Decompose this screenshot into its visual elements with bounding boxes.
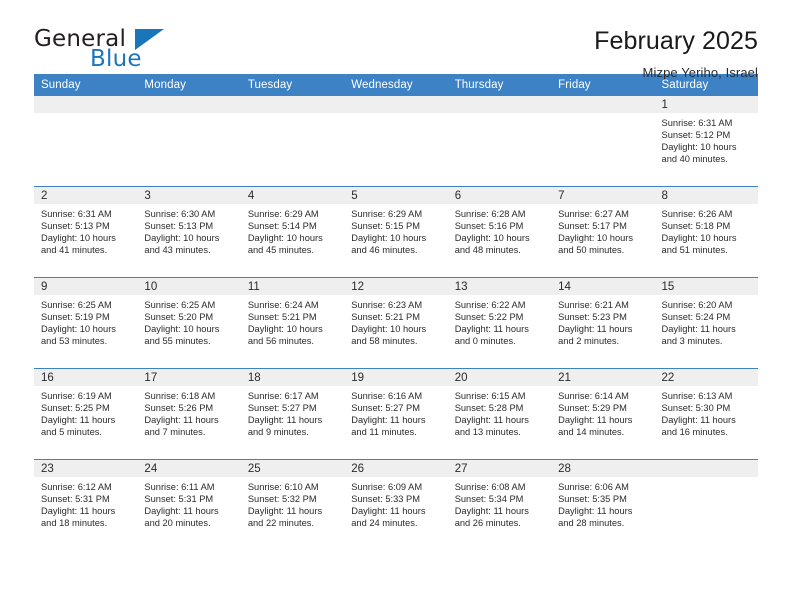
day-details: Sunrise: 6:11 AMSunset: 5:31 PMDaylight:… <box>137 477 240 529</box>
calendar-day-cell[interactable]: 1Sunrise: 6:31 AMSunset: 5:12 PMDaylight… <box>655 96 758 187</box>
calendar-week-row: 1Sunrise: 6:31 AMSunset: 5:12 PMDaylight… <box>34 96 758 187</box>
sunset-text: Sunset: 5:31 PM <box>41 493 131 505</box>
page-subtitle: Mizpe Yeriho, Israel <box>594 65 758 80</box>
calendar-week-row: 23Sunrise: 6:12 AMSunset: 5:31 PMDayligh… <box>34 460 758 551</box>
sunset-text: Sunset: 5:33 PM <box>351 493 441 505</box>
sunset-text: Sunset: 5:29 PM <box>558 402 648 414</box>
sunrise-text: Sunrise: 6:08 AM <box>455 481 545 493</box>
day-details: Sunrise: 6:19 AMSunset: 5:25 PMDaylight:… <box>34 386 137 438</box>
page-header: General Blue February 2025 Mizpe Yeriho,… <box>34 0 758 74</box>
calendar-day-cell[interactable]: 8Sunrise: 6:26 AMSunset: 5:18 PMDaylight… <box>655 187 758 278</box>
calendar-day-cell[interactable]: 11Sunrise: 6:24 AMSunset: 5:21 PMDayligh… <box>241 278 344 369</box>
sunset-text: Sunset: 5:30 PM <box>662 402 752 414</box>
day-number <box>34 96 137 113</box>
day-details: Sunrise: 6:26 AMSunset: 5:18 PMDaylight:… <box>655 204 758 256</box>
daylight-text: Daylight: 11 hours and 5 minutes. <box>41 414 131 438</box>
sunrise-text: Sunrise: 6:11 AM <box>144 481 234 493</box>
sunset-text: Sunset: 5:20 PM <box>144 311 234 323</box>
calendar-day-cell[interactable]: 6Sunrise: 6:28 AMSunset: 5:16 PMDaylight… <box>448 187 551 278</box>
sunrise-text: Sunrise: 6:25 AM <box>144 299 234 311</box>
title-block: February 2025 Mizpe Yeriho, Israel <box>594 28 758 80</box>
daylight-text: Daylight: 11 hours and 20 minutes. <box>144 505 234 529</box>
sunset-text: Sunset: 5:35 PM <box>558 493 648 505</box>
calendar-day-cell[interactable]: 15Sunrise: 6:20 AMSunset: 5:24 PMDayligh… <box>655 278 758 369</box>
day-number: 23 <box>34 460 137 477</box>
sunrise-text: Sunrise: 6:31 AM <box>662 117 752 129</box>
sunset-text: Sunset: 5:12 PM <box>662 129 752 141</box>
sunrise-text: Sunrise: 6:28 AM <box>455 208 545 220</box>
daylight-text: Daylight: 11 hours and 18 minutes. <box>41 505 131 529</box>
day-number: 12 <box>344 278 447 295</box>
day-number: 9 <box>34 278 137 295</box>
sunset-text: Sunset: 5:22 PM <box>455 311 545 323</box>
calendar-day-cell[interactable]: 16Sunrise: 6:19 AMSunset: 5:25 PMDayligh… <box>34 369 137 460</box>
daylight-text: Daylight: 10 hours and 55 minutes. <box>144 323 234 347</box>
calendar-day-cell-empty <box>34 96 137 187</box>
sunset-text: Sunset: 5:14 PM <box>248 220 338 232</box>
calendar-day-cell[interactable]: 9Sunrise: 6:25 AMSunset: 5:19 PMDaylight… <box>34 278 137 369</box>
day-number <box>551 96 654 113</box>
day-number: 25 <box>241 460 344 477</box>
sunrise-text: Sunrise: 6:16 AM <box>351 390 441 402</box>
sunrise-text: Sunrise: 6:26 AM <box>662 208 752 220</box>
day-number: 8 <box>655 187 758 204</box>
sunrise-text: Sunrise: 6:13 AM <box>662 390 752 402</box>
brand-logo[interactable]: General Blue <box>34 28 274 76</box>
weekday-header-sunday: Sunday <box>34 74 137 96</box>
sunrise-text: Sunrise: 6:27 AM <box>558 208 648 220</box>
weekday-header-thursday: Thursday <box>448 74 551 96</box>
sunrise-text: Sunrise: 6:06 AM <box>558 481 648 493</box>
sunrise-text: Sunrise: 6:22 AM <box>455 299 545 311</box>
calendar-day-cell[interactable]: 7Sunrise: 6:27 AMSunset: 5:17 PMDaylight… <box>551 187 654 278</box>
calendar-page: General Blue February 2025 Mizpe Yeriho,… <box>0 0 792 612</box>
sunset-text: Sunset: 5:23 PM <box>558 311 648 323</box>
calendar-week-row: 9Sunrise: 6:25 AMSunset: 5:19 PMDaylight… <box>34 278 758 369</box>
calendar-day-cell[interactable]: 28Sunrise: 6:06 AMSunset: 5:35 PMDayligh… <box>551 460 654 551</box>
daylight-text: Daylight: 10 hours and 58 minutes. <box>351 323 441 347</box>
calendar-week-row: 16Sunrise: 6:19 AMSunset: 5:25 PMDayligh… <box>34 369 758 460</box>
calendar-day-cell[interactable]: 12Sunrise: 6:23 AMSunset: 5:21 PMDayligh… <box>344 278 447 369</box>
day-details: Sunrise: 6:14 AMSunset: 5:29 PMDaylight:… <box>551 386 654 438</box>
sunset-text: Sunset: 5:13 PM <box>144 220 234 232</box>
daylight-text: Daylight: 10 hours and 45 minutes. <box>248 232 338 256</box>
day-details: Sunrise: 6:27 AMSunset: 5:17 PMDaylight:… <box>551 204 654 256</box>
sunset-text: Sunset: 5:16 PM <box>455 220 545 232</box>
sunrise-text: Sunrise: 6:21 AM <box>558 299 648 311</box>
day-number <box>655 460 758 477</box>
sunset-text: Sunset: 5:17 PM <box>558 220 648 232</box>
day-details: Sunrise: 6:21 AMSunset: 5:23 PMDaylight:… <box>551 295 654 347</box>
weekday-header-monday: Monday <box>137 74 240 96</box>
sunrise-text: Sunrise: 6:29 AM <box>248 208 338 220</box>
calendar-day-cell[interactable]: 17Sunrise: 6:18 AMSunset: 5:26 PMDayligh… <box>137 369 240 460</box>
day-details: Sunrise: 6:29 AMSunset: 5:14 PMDaylight:… <box>241 204 344 256</box>
calendar-day-cell[interactable]: 21Sunrise: 6:14 AMSunset: 5:29 PMDayligh… <box>551 369 654 460</box>
day-details: Sunrise: 6:25 AMSunset: 5:19 PMDaylight:… <box>34 295 137 347</box>
page-title: February 2025 <box>594 28 758 56</box>
daylight-text: Daylight: 10 hours and 53 minutes. <box>41 323 131 347</box>
calendar-day-cell[interactable]: 26Sunrise: 6:09 AMSunset: 5:33 PMDayligh… <box>344 460 447 551</box>
day-number <box>448 96 551 113</box>
daylight-text: Daylight: 10 hours and 48 minutes. <box>455 232 545 256</box>
day-number: 4 <box>241 187 344 204</box>
daylight-text: Daylight: 10 hours and 43 minutes. <box>144 232 234 256</box>
daylight-text: Daylight: 10 hours and 46 minutes. <box>351 232 441 256</box>
day-number: 7 <box>551 187 654 204</box>
day-number: 15 <box>655 278 758 295</box>
daylight-text: Daylight: 11 hours and 0 minutes. <box>455 323 545 347</box>
sunset-text: Sunset: 5:31 PM <box>144 493 234 505</box>
day-details: Sunrise: 6:10 AMSunset: 5:32 PMDaylight:… <box>241 477 344 529</box>
day-number: 26 <box>344 460 447 477</box>
sunrise-text: Sunrise: 6:09 AM <box>351 481 441 493</box>
day-number <box>344 96 447 113</box>
day-number: 20 <box>448 369 551 386</box>
calendar-day-cell[interactable]: 24Sunrise: 6:11 AMSunset: 5:31 PMDayligh… <box>137 460 240 551</box>
sunrise-text: Sunrise: 6:23 AM <box>351 299 441 311</box>
daylight-text: Daylight: 11 hours and 22 minutes. <box>248 505 338 529</box>
calendar-day-cell-empty <box>241 96 344 187</box>
sunset-text: Sunset: 5:21 PM <box>248 311 338 323</box>
day-number: 16 <box>34 369 137 386</box>
daylight-text: Daylight: 10 hours and 50 minutes. <box>558 232 648 256</box>
calendar-day-cell[interactable]: 25Sunrise: 6:10 AMSunset: 5:32 PMDayligh… <box>241 460 344 551</box>
day-number: 19 <box>344 369 447 386</box>
day-details: Sunrise: 6:16 AMSunset: 5:27 PMDaylight:… <box>344 386 447 438</box>
sunset-text: Sunset: 5:21 PM <box>351 311 441 323</box>
day-details: Sunrise: 6:15 AMSunset: 5:28 PMDaylight:… <box>448 386 551 438</box>
calendar-day-cell-empty <box>448 96 551 187</box>
day-details: Sunrise: 6:22 AMSunset: 5:22 PMDaylight:… <box>448 295 551 347</box>
day-number: 28 <box>551 460 654 477</box>
day-details: Sunrise: 6:06 AMSunset: 5:35 PMDaylight:… <box>551 477 654 529</box>
calendar-day-cell[interactable]: 5Sunrise: 6:29 AMSunset: 5:15 PMDaylight… <box>344 187 447 278</box>
day-details: Sunrise: 6:24 AMSunset: 5:21 PMDaylight:… <box>241 295 344 347</box>
sunset-text: Sunset: 5:15 PM <box>351 220 441 232</box>
daylight-text: Daylight: 11 hours and 28 minutes. <box>558 505 648 529</box>
day-number: 10 <box>137 278 240 295</box>
day-details: Sunrise: 6:29 AMSunset: 5:15 PMDaylight:… <box>344 204 447 256</box>
sunrise-text: Sunrise: 6:29 AM <box>351 208 441 220</box>
calendar-table: Sunday Monday Tuesday Wednesday Thursday… <box>34 74 758 550</box>
calendar-day-cell-empty <box>344 96 447 187</box>
daylight-text: Daylight: 11 hours and 3 minutes. <box>662 323 752 347</box>
daylight-text: Daylight: 11 hours and 16 minutes. <box>662 414 752 438</box>
sunrise-text: Sunrise: 6:10 AM <box>248 481 338 493</box>
day-number <box>241 96 344 113</box>
daylight-text: Daylight: 10 hours and 51 minutes. <box>662 232 752 256</box>
daylight-text: Daylight: 11 hours and 11 minutes. <box>351 414 441 438</box>
day-details: Sunrise: 6:18 AMSunset: 5:26 PMDaylight:… <box>137 386 240 438</box>
daylight-text: Daylight: 11 hours and 26 minutes. <box>455 505 545 529</box>
sunrise-text: Sunrise: 6:17 AM <box>248 390 338 402</box>
sunset-text: Sunset: 5:26 PM <box>144 402 234 414</box>
day-number: 22 <box>655 369 758 386</box>
sunset-text: Sunset: 5:13 PM <box>41 220 131 232</box>
day-number: 21 <box>551 369 654 386</box>
day-number: 1 <box>655 96 758 113</box>
calendar-day-cell[interactable]: 19Sunrise: 6:16 AMSunset: 5:27 PMDayligh… <box>344 369 447 460</box>
calendar-day-cell-empty <box>137 96 240 187</box>
sunset-text: Sunset: 5:24 PM <box>662 311 752 323</box>
sunset-text: Sunset: 5:27 PM <box>351 402 441 414</box>
day-number: 17 <box>137 369 240 386</box>
sunset-text: Sunset: 5:18 PM <box>662 220 752 232</box>
calendar-day-cell[interactable]: 2Sunrise: 6:31 AMSunset: 5:13 PMDaylight… <box>34 187 137 278</box>
daylight-text: Daylight: 11 hours and 13 minutes. <box>455 414 545 438</box>
sunset-text: Sunset: 5:19 PM <box>41 311 131 323</box>
day-details: Sunrise: 6:12 AMSunset: 5:31 PMDaylight:… <box>34 477 137 529</box>
day-details: Sunrise: 6:31 AMSunset: 5:13 PMDaylight:… <box>34 204 137 256</box>
daylight-text: Daylight: 11 hours and 2 minutes. <box>558 323 648 347</box>
daylight-text: Daylight: 10 hours and 56 minutes. <box>248 323 338 347</box>
sunrise-text: Sunrise: 6:15 AM <box>455 390 545 402</box>
daylight-text: Daylight: 11 hours and 14 minutes. <box>558 414 648 438</box>
calendar-day-cell[interactable]: 10Sunrise: 6:25 AMSunset: 5:20 PMDayligh… <box>137 278 240 369</box>
day-details: Sunrise: 6:13 AMSunset: 5:30 PMDaylight:… <box>655 386 758 438</box>
calendar-day-cell[interactable]: 18Sunrise: 6:17 AMSunset: 5:27 PMDayligh… <box>241 369 344 460</box>
day-number: 2 <box>34 187 137 204</box>
day-details: Sunrise: 6:23 AMSunset: 5:21 PMDaylight:… <box>344 295 447 347</box>
weekday-header-tuesday: Tuesday <box>241 74 344 96</box>
sunrise-text: Sunrise: 6:31 AM <box>41 208 131 220</box>
calendar-day-cell[interactable]: 27Sunrise: 6:08 AMSunset: 5:34 PMDayligh… <box>448 460 551 551</box>
sunrise-text: Sunrise: 6:14 AM <box>558 390 648 402</box>
day-details: Sunrise: 6:20 AMSunset: 5:24 PMDaylight:… <box>655 295 758 347</box>
sunset-text: Sunset: 5:32 PM <box>248 493 338 505</box>
sunset-text: Sunset: 5:25 PM <box>41 402 131 414</box>
sunrise-text: Sunrise: 6:24 AM <box>248 299 338 311</box>
day-number: 24 <box>137 460 240 477</box>
calendar-day-cell[interactable]: 3Sunrise: 6:30 AMSunset: 5:13 PMDaylight… <box>137 187 240 278</box>
calendar-week-row: 2Sunrise: 6:31 AMSunset: 5:13 PMDaylight… <box>34 187 758 278</box>
day-details: Sunrise: 6:30 AMSunset: 5:13 PMDaylight:… <box>137 204 240 256</box>
calendar-day-cell[interactable]: 14Sunrise: 6:21 AMSunset: 5:23 PMDayligh… <box>551 278 654 369</box>
sunrise-text: Sunrise: 6:18 AM <box>144 390 234 402</box>
sunset-text: Sunset: 5:34 PM <box>455 493 545 505</box>
calendar-day-cell[interactable]: 4Sunrise: 6:29 AMSunset: 5:14 PMDaylight… <box>241 187 344 278</box>
day-details: Sunrise: 6:31 AMSunset: 5:12 PMDaylight:… <box>655 113 758 165</box>
daylight-text: Daylight: 10 hours and 40 minutes. <box>662 141 752 165</box>
sunrise-text: Sunrise: 6:20 AM <box>662 299 752 311</box>
day-details: Sunrise: 6:17 AMSunset: 5:27 PMDaylight:… <box>241 386 344 438</box>
day-number: 5 <box>344 187 447 204</box>
day-number: 13 <box>448 278 551 295</box>
day-number: 18 <box>241 369 344 386</box>
day-number: 27 <box>448 460 551 477</box>
day-number <box>137 96 240 113</box>
day-details: Sunrise: 6:28 AMSunset: 5:16 PMDaylight:… <box>448 204 551 256</box>
brand-name-blue: Blue <box>90 48 142 71</box>
sunset-text: Sunset: 5:28 PM <box>455 402 545 414</box>
sunrise-text: Sunrise: 6:19 AM <box>41 390 131 402</box>
day-details: Sunrise: 6:09 AMSunset: 5:33 PMDaylight:… <box>344 477 447 529</box>
calendar-body: 1Sunrise: 6:31 AMSunset: 5:12 PMDaylight… <box>34 96 758 550</box>
daylight-text: Daylight: 11 hours and 7 minutes. <box>144 414 234 438</box>
daylight-text: Daylight: 11 hours and 9 minutes. <box>248 414 338 438</box>
daylight-text: Daylight: 10 hours and 41 minutes. <box>41 232 131 256</box>
weekday-header-wednesday: Wednesday <box>344 74 447 96</box>
calendar-day-cell[interactable]: 13Sunrise: 6:22 AMSunset: 5:22 PMDayligh… <box>448 278 551 369</box>
day-number: 11 <box>241 278 344 295</box>
sunrise-text: Sunrise: 6:12 AM <box>41 481 131 493</box>
calendar-day-cell[interactable]: 23Sunrise: 6:12 AMSunset: 5:31 PMDayligh… <box>34 460 137 551</box>
sunrise-text: Sunrise: 6:25 AM <box>41 299 131 311</box>
sunrise-text: Sunrise: 6:30 AM <box>144 208 234 220</box>
daylight-text: Daylight: 11 hours and 24 minutes. <box>351 505 441 529</box>
sunset-text: Sunset: 5:27 PM <box>248 402 338 414</box>
day-details: Sunrise: 6:08 AMSunset: 5:34 PMDaylight:… <box>448 477 551 529</box>
day-details: Sunrise: 6:25 AMSunset: 5:20 PMDaylight:… <box>137 295 240 347</box>
calendar-day-cell-empty <box>551 96 654 187</box>
day-number: 3 <box>137 187 240 204</box>
day-number: 14 <box>551 278 654 295</box>
day-number: 6 <box>448 187 551 204</box>
calendar-day-cell[interactable]: 22Sunrise: 6:13 AMSunset: 5:30 PMDayligh… <box>655 369 758 460</box>
calendar-day-cell-empty <box>655 460 758 551</box>
calendar-day-cell[interactable]: 20Sunrise: 6:15 AMSunset: 5:28 PMDayligh… <box>448 369 551 460</box>
